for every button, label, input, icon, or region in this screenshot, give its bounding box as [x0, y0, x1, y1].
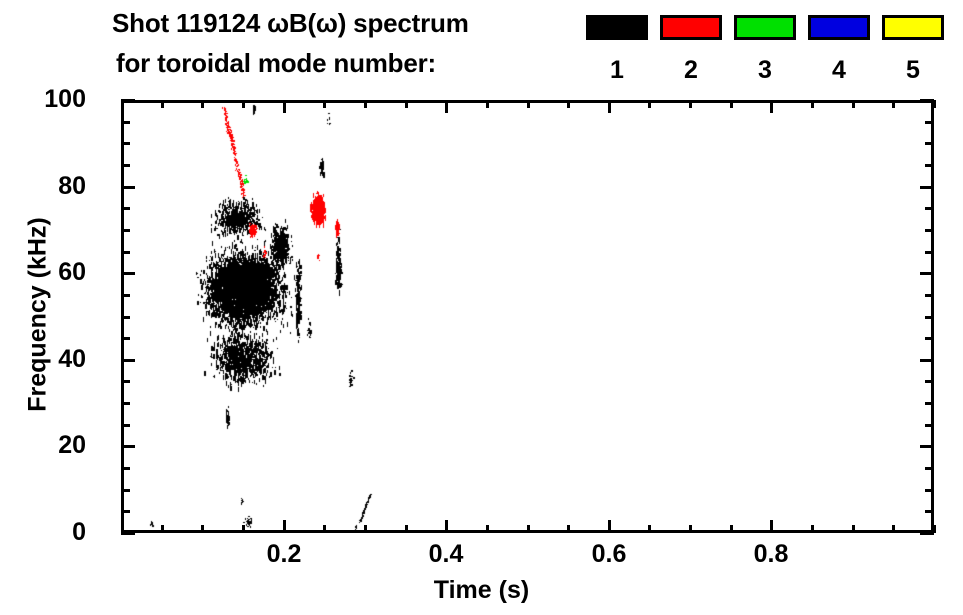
- y-tick-major-20: [121, 445, 135, 448]
- y-tick-right-60: [920, 272, 934, 275]
- x-tick-minor-0.25: [323, 525, 326, 533]
- y-tick-minor-95: [121, 121, 130, 124]
- page-subtitle: for toroidal mode number:: [116, 48, 436, 79]
- x-tick-minor-1: [933, 525, 936, 533]
- x-tick-top-1: [933, 100, 936, 108]
- y-tick-minor-50: [121, 316, 130, 319]
- x-tick-minor-0.05: [161, 525, 164, 533]
- legend-label-5: 5: [882, 56, 944, 84]
- x-tick-top-0.7: [689, 100, 692, 108]
- y-tick-right-45: [925, 337, 934, 340]
- x-tick-label-0.6: 0.6: [564, 540, 654, 568]
- y-axis-title: Frequency (kHz): [24, 185, 53, 445]
- y-tick-right-35: [925, 380, 934, 383]
- spectrogram-canvas: [124, 103, 931, 530]
- x-tick-minor-0.35: [405, 525, 408, 533]
- legend-label-3: 3: [734, 56, 796, 84]
- x-tick-minor-0.55: [567, 525, 570, 533]
- y-tick-minor-30: [121, 402, 130, 405]
- x-tick-major-0.8: [770, 520, 773, 533]
- y-tick-minor-75: [121, 207, 130, 210]
- legend-swatch-1: [586, 15, 648, 40]
- x-tick-top-0.9: [852, 100, 855, 108]
- x-tick-label-0.4: 0.4: [401, 540, 491, 568]
- y-tick-minor-90: [121, 142, 130, 145]
- y-tick-minor-85: [121, 164, 130, 167]
- x-tick-top-0.95: [892, 100, 895, 108]
- y-tick-right-100: [920, 99, 934, 102]
- x-tick-top-0.15: [242, 100, 245, 108]
- y-tick-right-80: [920, 186, 934, 189]
- y-tick-right-85: [925, 164, 934, 167]
- legend-swatch-2: [660, 15, 722, 40]
- x-tick-major-0.6: [608, 520, 611, 533]
- x-tick-top-0.75: [730, 100, 733, 108]
- y-tick-right-5: [925, 510, 934, 513]
- x-tick-top-0.3: [364, 100, 367, 108]
- y-tick-label-0: 0: [16, 520, 86, 545]
- y-tick-major-80: [121, 186, 135, 189]
- x-tick-label-0.8: 0.8: [726, 540, 816, 568]
- y-tick-right-20: [920, 445, 934, 448]
- x-tick-minor-0.95: [892, 525, 895, 533]
- page-title: Shot 119124 ωB(ω) spectrum: [112, 8, 469, 39]
- legend-swatch-3: [734, 15, 796, 40]
- x-tick-top-0.5: [527, 100, 530, 108]
- y-tick-right-90: [925, 142, 934, 145]
- y-tick-right-55: [925, 294, 934, 297]
- y-tick-right-0: [920, 532, 934, 535]
- y-tick-right-10: [925, 489, 934, 492]
- y-tick-major-100: [121, 99, 135, 102]
- x-tick-top-0.85: [811, 100, 814, 108]
- x-tick-minor-0.3: [364, 525, 367, 533]
- y-tick-minor-45: [121, 337, 130, 340]
- y-tick-major-40: [121, 359, 135, 362]
- x-tick-minor-0.75: [730, 525, 733, 533]
- x-tick-minor-0.65: [648, 525, 651, 533]
- x-tick-minor-0.1: [201, 525, 204, 533]
- legend-swatch-5: [882, 15, 944, 40]
- y-tick-right-50: [925, 316, 934, 319]
- x-tick-minor-0.85: [811, 525, 814, 533]
- x-tick-top-0.1: [201, 100, 204, 108]
- x-tick-minor-0.15: [242, 525, 245, 533]
- y-tick-right-15: [925, 467, 934, 470]
- y-tick-minor-15: [121, 467, 130, 470]
- y-tick-major-0: [121, 532, 135, 535]
- x-tick-top-0.25: [323, 100, 326, 108]
- legend-label-1: 1: [586, 56, 648, 84]
- x-tick-top-0.4: [445, 100, 448, 113]
- x-tick-minor-0.7: [689, 525, 692, 533]
- legend-label-2: 2: [660, 56, 722, 84]
- y-tick-major-60: [121, 272, 135, 275]
- x-tick-minor-0.9: [852, 525, 855, 533]
- x-tick-minor-0.5: [527, 525, 530, 533]
- x-tick-top-0.65: [648, 100, 651, 108]
- y-tick-minor-25: [121, 424, 130, 427]
- x-tick-top-0.55: [567, 100, 570, 108]
- legend-label-4: 4: [808, 56, 870, 84]
- x-tick-major-0.2: [283, 520, 286, 533]
- x-tick-top-0.05: [161, 100, 164, 108]
- x-tick-top-0.45: [486, 100, 489, 108]
- y-tick-minor-70: [121, 229, 130, 232]
- y-tick-minor-35: [121, 380, 130, 383]
- legend-swatch-4: [808, 15, 870, 40]
- y-tick-right-75: [925, 207, 934, 210]
- y-tick-minor-10: [121, 489, 130, 492]
- x-axis-title: Time (s): [0, 576, 963, 605]
- y-tick-minor-55: [121, 294, 130, 297]
- y-tick-right-40: [920, 359, 934, 362]
- x-tick-top-0.2: [283, 100, 286, 113]
- x-tick-top-0.6: [608, 100, 611, 113]
- y-tick-right-25: [925, 424, 934, 427]
- spectrogram-figure: Shot 119124 ωB(ω) spectrum for toroidal …: [0, 0, 963, 615]
- x-tick-top-0.35: [405, 100, 408, 108]
- y-tick-right-70: [925, 229, 934, 232]
- plot-area: [121, 100, 934, 533]
- y-tick-minor-65: [121, 251, 130, 254]
- x-tick-minor-0.45: [486, 525, 489, 533]
- y-tick-right-65: [925, 251, 934, 254]
- y-tick-label-100: 100: [16, 87, 86, 112]
- x-tick-label-0.2: 0.2: [239, 540, 329, 568]
- y-tick-right-95: [925, 121, 934, 124]
- x-tick-top-0.8: [770, 100, 773, 113]
- y-tick-minor-5: [121, 510, 130, 513]
- x-tick-major-0.4: [445, 520, 448, 533]
- y-tick-right-30: [925, 402, 934, 405]
